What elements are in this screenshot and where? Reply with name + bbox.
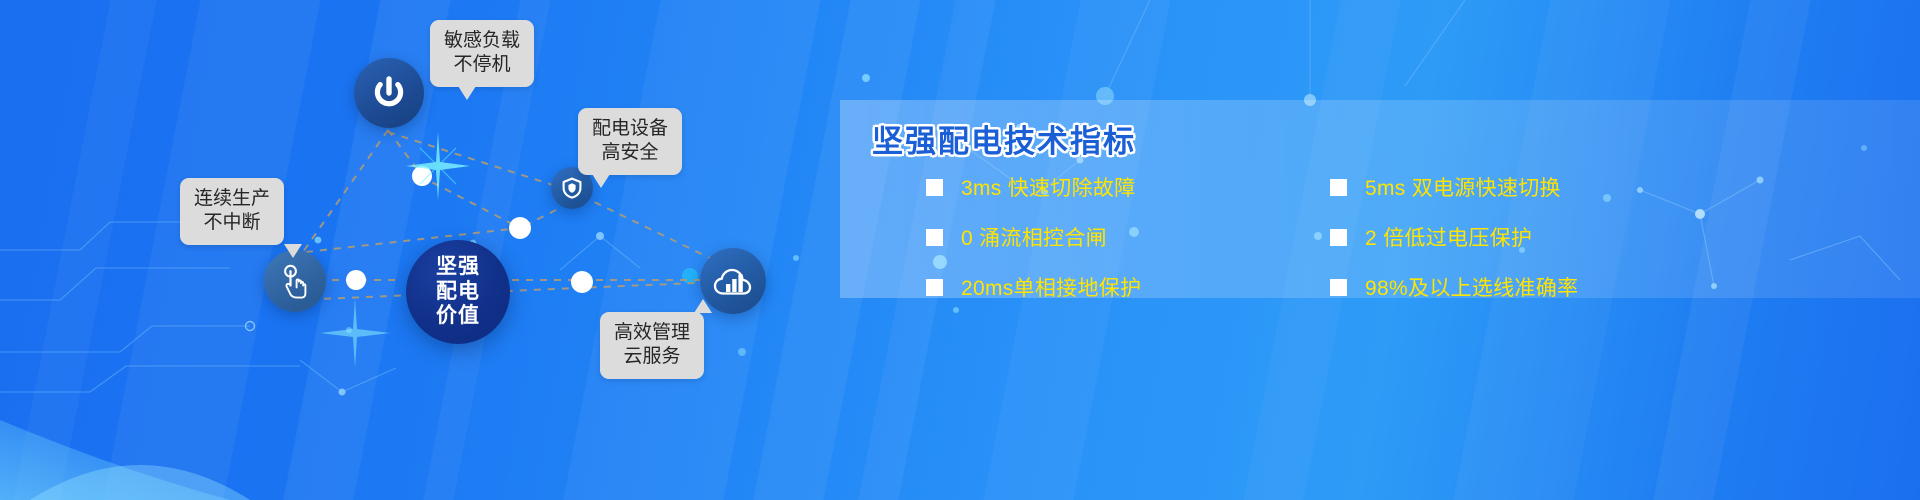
callout-line-2: 不停机 (444, 53, 520, 77)
power-icon (369, 73, 409, 113)
bullet-square-icon (1330, 279, 1347, 296)
spec-item: 0 涌流相控合闸 (926, 222, 1330, 252)
value-network-diagram: 坚强 配电 价值 敏感负载 不停机 配电设备 高安全 连续生产 不中断 高效管理… (0, 0, 860, 500)
spec-item: 98%及以上选线准确率 (1330, 272, 1734, 302)
spec-label: 2 倍低过电压保护 (1365, 222, 1532, 252)
spec-label: 3ms 快速切除故障 (961, 172, 1136, 202)
spec-label: 20ms单相接地保护 (961, 272, 1141, 302)
center-line-2: 配电 (436, 280, 480, 304)
callout-continuous-production: 连续生产 不中断 (180, 178, 284, 245)
bullet-square-icon (926, 179, 943, 196)
touch-node[interactable] (264, 250, 326, 312)
promo-banner: 坚强 配电 价值 敏感负载 不停机 配电设备 高安全 连续生产 不中断 高效管理… (0, 0, 1920, 500)
panel-title: 坚强配电技术指标 (872, 116, 1136, 161)
bullet-square-icon (1330, 179, 1347, 196)
callout-line-1: 配电设备 (592, 117, 668, 141)
power-node[interactable] (354, 58, 424, 128)
spec-item: 2 倍低过电压保护 (1330, 222, 1734, 252)
shield-icon (560, 176, 584, 200)
callout-cloud-management: 高效管理 云服务 (600, 312, 704, 379)
callout-line-2: 不中断 (194, 211, 270, 235)
bullet-square-icon (926, 229, 943, 246)
spec-label: 5ms 双电源快速切换 (1365, 172, 1561, 202)
bullet-square-icon (926, 279, 943, 296)
center-line-3: 价值 (436, 304, 480, 328)
callout-line-1: 敏感负载 (444, 29, 520, 53)
cloud-bar-chart-icon (713, 264, 753, 298)
spec-label: 0 涌流相控合闸 (961, 222, 1107, 252)
center-line-1: 坚强 (436, 255, 480, 279)
center-node: 坚强 配电 价值 (406, 240, 510, 344)
callout-line-2: 高安全 (592, 141, 668, 165)
callout-line-2: 云服务 (614, 345, 690, 369)
tech-spec-panel: 坚强配电技术指标 3ms 快速切除故障 5ms 双电源快速切换 0 涌流相控合闸… (840, 100, 1920, 298)
callout-sensitive-load: 敏感负载 不停机 (430, 20, 534, 87)
spec-item: 5ms 双电源快速切换 (1330, 172, 1734, 202)
spec-item: 20ms单相接地保护 (926, 272, 1330, 302)
spec-item: 3ms 快速切除故障 (926, 172, 1330, 202)
callout-line-1: 连续生产 (194, 187, 270, 211)
callout-distribution-safety: 配电设备 高安全 (578, 108, 682, 175)
hand-click-icon (278, 263, 312, 299)
callout-line-1: 高效管理 (614, 321, 690, 345)
spec-list: 3ms 快速切除故障 5ms 双电源快速切换 0 涌流相控合闸 2 倍低过电压保… (926, 172, 1886, 302)
bullet-square-icon (1330, 229, 1347, 246)
spec-label: 98%及以上选线准确率 (1365, 272, 1578, 302)
